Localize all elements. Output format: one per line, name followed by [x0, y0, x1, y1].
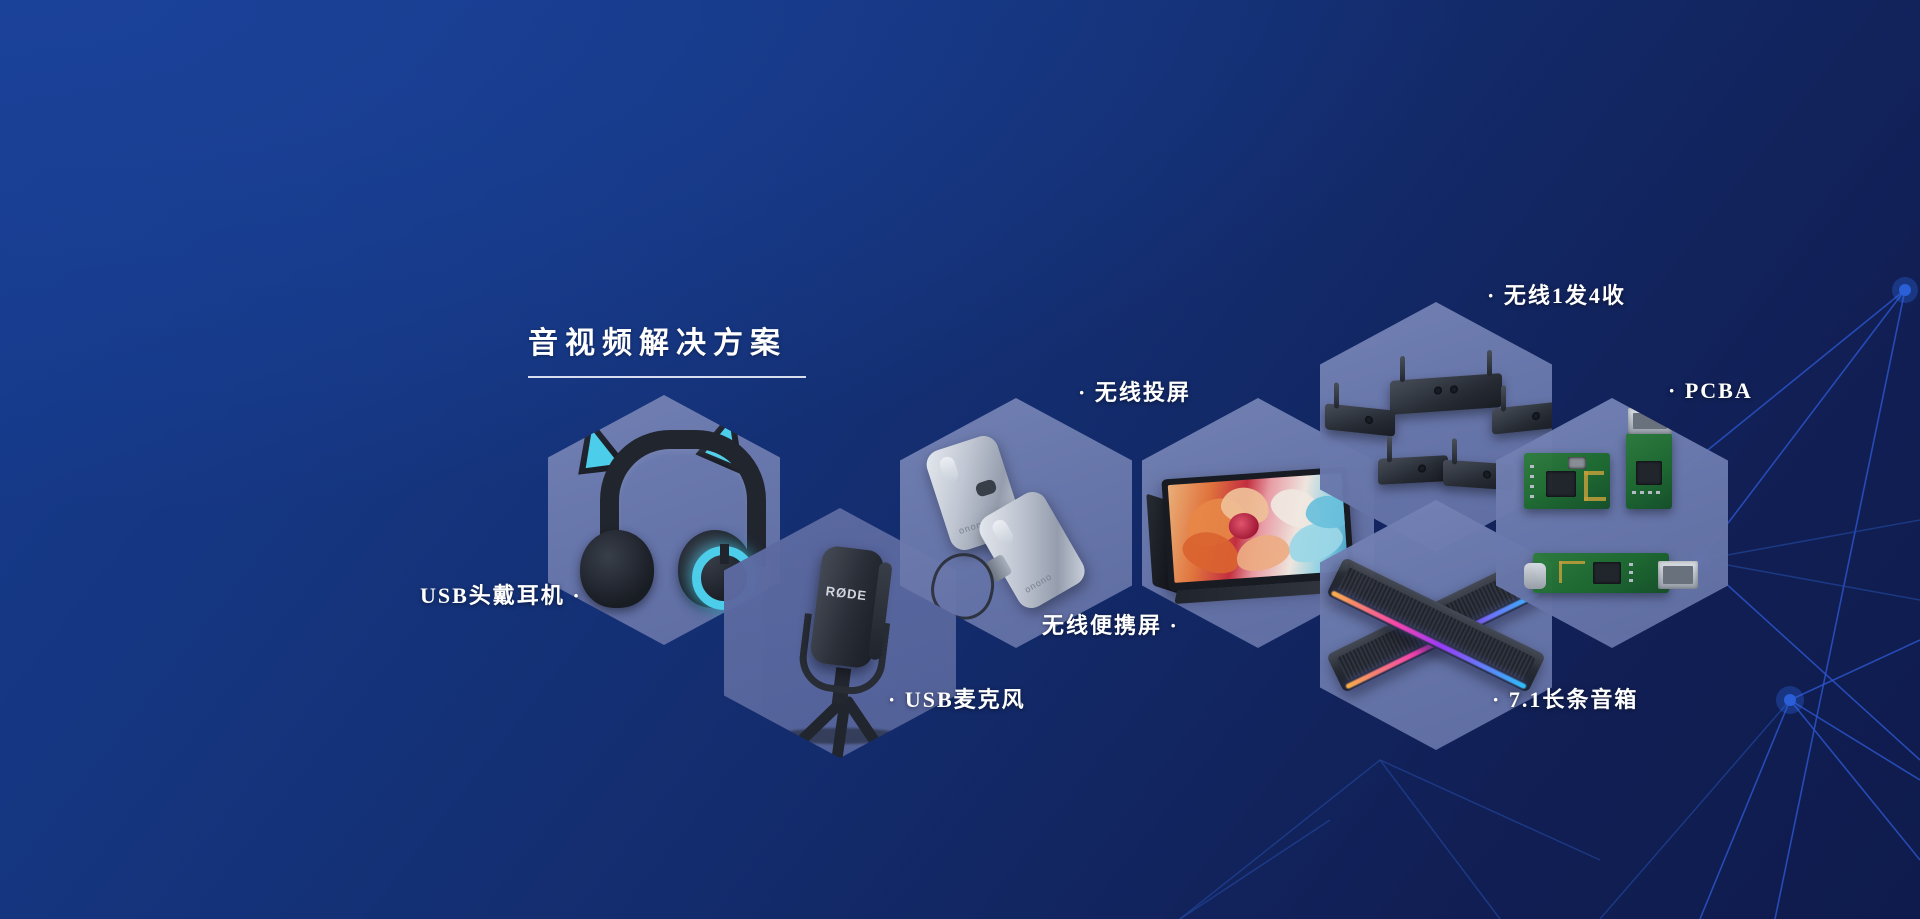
pcb-usbc-hdmi-stick — [1533, 553, 1669, 593]
title-underline — [528, 376, 806, 378]
label-usb-microphone: · USB麦克风 — [888, 682, 1026, 714]
label-wireless-1tx-4rx: · 无线1发4收 — [1487, 278, 1626, 310]
label-usb-headset-text: USB头戴耳机 — [420, 583, 565, 608]
pcb-hdmi-dongle — [1626, 433, 1672, 509]
label-pcba-text: PCBA — [1685, 378, 1753, 403]
label-portable-screen: 无线便携屏 · — [1042, 608, 1179, 640]
hdmi-connector — [1628, 408, 1672, 434]
label-bullet: · — [1078, 380, 1087, 405]
headphone-earcup-left — [580, 530, 654, 608]
router-transmitter — [1390, 373, 1502, 415]
mic-brand-text: RØDE — [825, 583, 868, 603]
label-usb-headset: USB头戴耳机 · — [420, 578, 582, 610]
label-bullet: · — [1668, 378, 1677, 403]
label-usb-microphone-text: USB麦克风 — [905, 687, 1026, 712]
title-block: 音视频解决方案 — [528, 318, 806, 378]
mic-side-rail — [868, 562, 893, 661]
label-wireless-casting-text: 无线投屏 — [1095, 380, 1191, 405]
label-bullet: · — [1487, 283, 1496, 308]
label-bullet: · — [1492, 687, 1501, 712]
router-receiver — [1378, 455, 1448, 485]
label-bullet: · — [888, 687, 897, 712]
router-receiver — [1325, 403, 1395, 436]
label-wireless-casting: · 无线投屏 — [1078, 375, 1191, 407]
pcb-module — [1524, 453, 1610, 509]
router-receiver — [1492, 401, 1552, 434]
label-bullet: · — [572, 583, 581, 608]
usb-c-connector — [1524, 563, 1546, 589]
hero-banner: 音视频解决方案 USB头戴耳机 · RØDE — [0, 0, 1920, 919]
label-portable-screen-text: 无线便携屏 — [1042, 613, 1162, 638]
label-soundbar-text: 7.1长条音箱 — [1509, 687, 1639, 712]
mic-body: RØDE — [809, 545, 885, 670]
label-bullet: · — [1170, 613, 1179, 638]
hdmi-connector — [1658, 561, 1698, 589]
label-soundbar: · 7.1长条音箱 — [1492, 682, 1638, 714]
label-pcba: · PCBA — [1668, 378, 1753, 404]
label-wireless-1tx-4rx-text: 无线1发4收 — [1504, 283, 1626, 308]
page-title: 音视频解决方案 — [528, 318, 806, 362]
